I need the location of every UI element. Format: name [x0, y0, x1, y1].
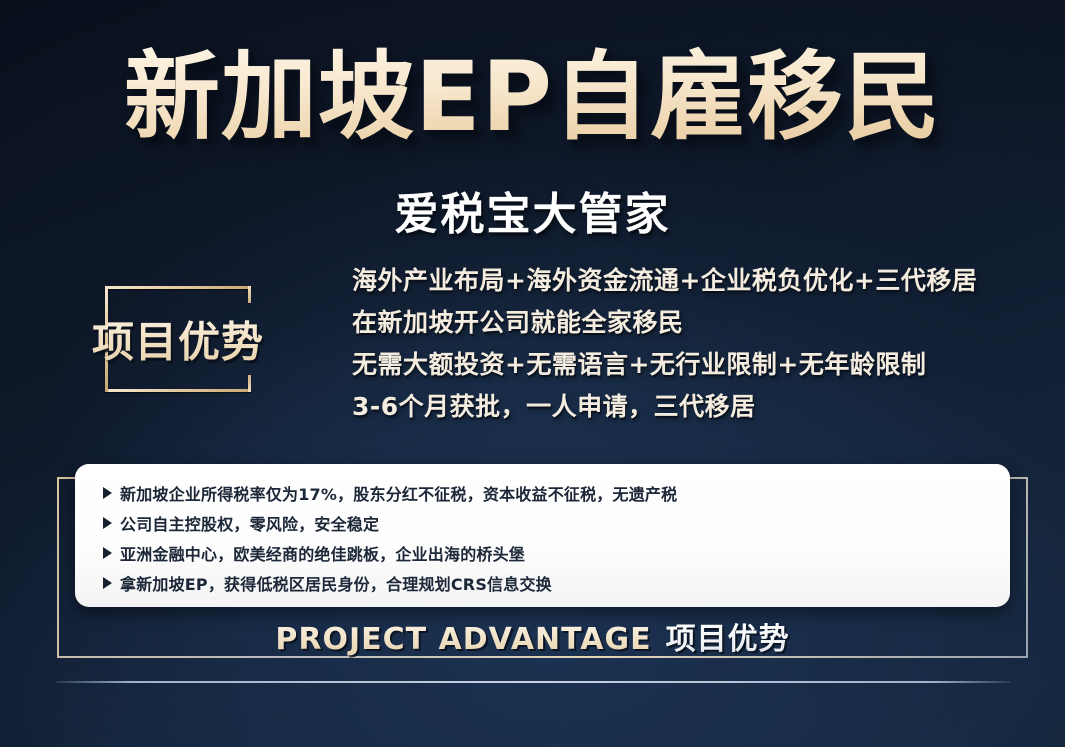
badge-label: 项目优势: [92, 309, 264, 370]
bracket-line-right-bottom: [248, 375, 251, 392]
caption-chinese: 项目优势: [666, 622, 790, 657]
list-item: 新加坡企业所得税率仅为17%，股东分红不征税，资本收益不征税，无遗产税: [103, 478, 988, 507]
bracket-line-bottom: [105, 389, 251, 392]
bottom-caption: PROJECT ADVANTAGE项目优势: [0, 614, 1065, 658]
feature-line: 在新加坡开公司就能全家移民: [352, 310, 1032, 335]
feature-list: 海外产业布局+海外资金流通+企业税负优化+三代移居 在新加坡开公司就能全家移民 …: [352, 268, 1032, 419]
benefits-card: 新加坡企业所得税率仅为17%，股东分红不征税，资本收益不征税，无遗产税 公司自主…: [75, 464, 1010, 607]
caption-english: PROJECT ADVANTAGE: [275, 622, 651, 657]
triangle-bullet-icon: [103, 547, 112, 559]
bracket-line-right-top: [248, 286, 251, 303]
list-item: 亚洲金融中心，欧美经商的绝佳跳板，企业出海的桥头堡: [103, 538, 988, 567]
list-item: 公司自主控股权，零风险，安全稳定: [103, 508, 988, 537]
triangle-bullet-icon: [103, 517, 112, 529]
list-item: 拿新加坡EP，获得低税区居民身份，合理规划CRS信息交换: [103, 568, 988, 597]
list-item-label: 公司自主控股权，零风险，安全稳定: [120, 511, 379, 535]
list-item-label: 拿新加坡EP，获得低税区居民身份，合理规划CRS信息交换: [120, 571, 552, 595]
main-title: 新加坡EP自雇移民: [124, 44, 941, 152]
project-advantage-badge: 项目优势: [105, 286, 251, 392]
list-item-label: 新加坡企业所得税率仅为17%，股东分红不征税，资本收益不征税，无遗产税: [120, 481, 677, 505]
main-title-container: 新加坡EP自雇移民: [0, 44, 1065, 152]
triangle-bullet-icon: [103, 577, 112, 589]
bottom-divider: [56, 681, 1010, 683]
subtitle: 爱税宝大管家: [395, 178, 671, 242]
feature-line: 海外产业布局+海外资金流通+企业税负优化+三代移居: [352, 268, 1032, 293]
feature-line: 无需大额投资+无需语言+无行业限制+无年龄限制: [352, 352, 1032, 377]
subtitle-container: 爱税宝大管家: [0, 178, 1065, 242]
bracket-line-top: [105, 286, 251, 289]
promo-poster: 新加坡EP自雇移民 爱税宝大管家 项目优势 海外产业布局+海外资金流通+企业税负…: [0, 0, 1065, 747]
triangle-bullet-icon: [103, 487, 112, 499]
feature-line: 3-6个月获批，一人申请，三代移居: [352, 394, 1032, 419]
list-item-label: 亚洲金融中心，欧美经商的绝佳跳板，企业出海的桥头堡: [120, 541, 525, 565]
